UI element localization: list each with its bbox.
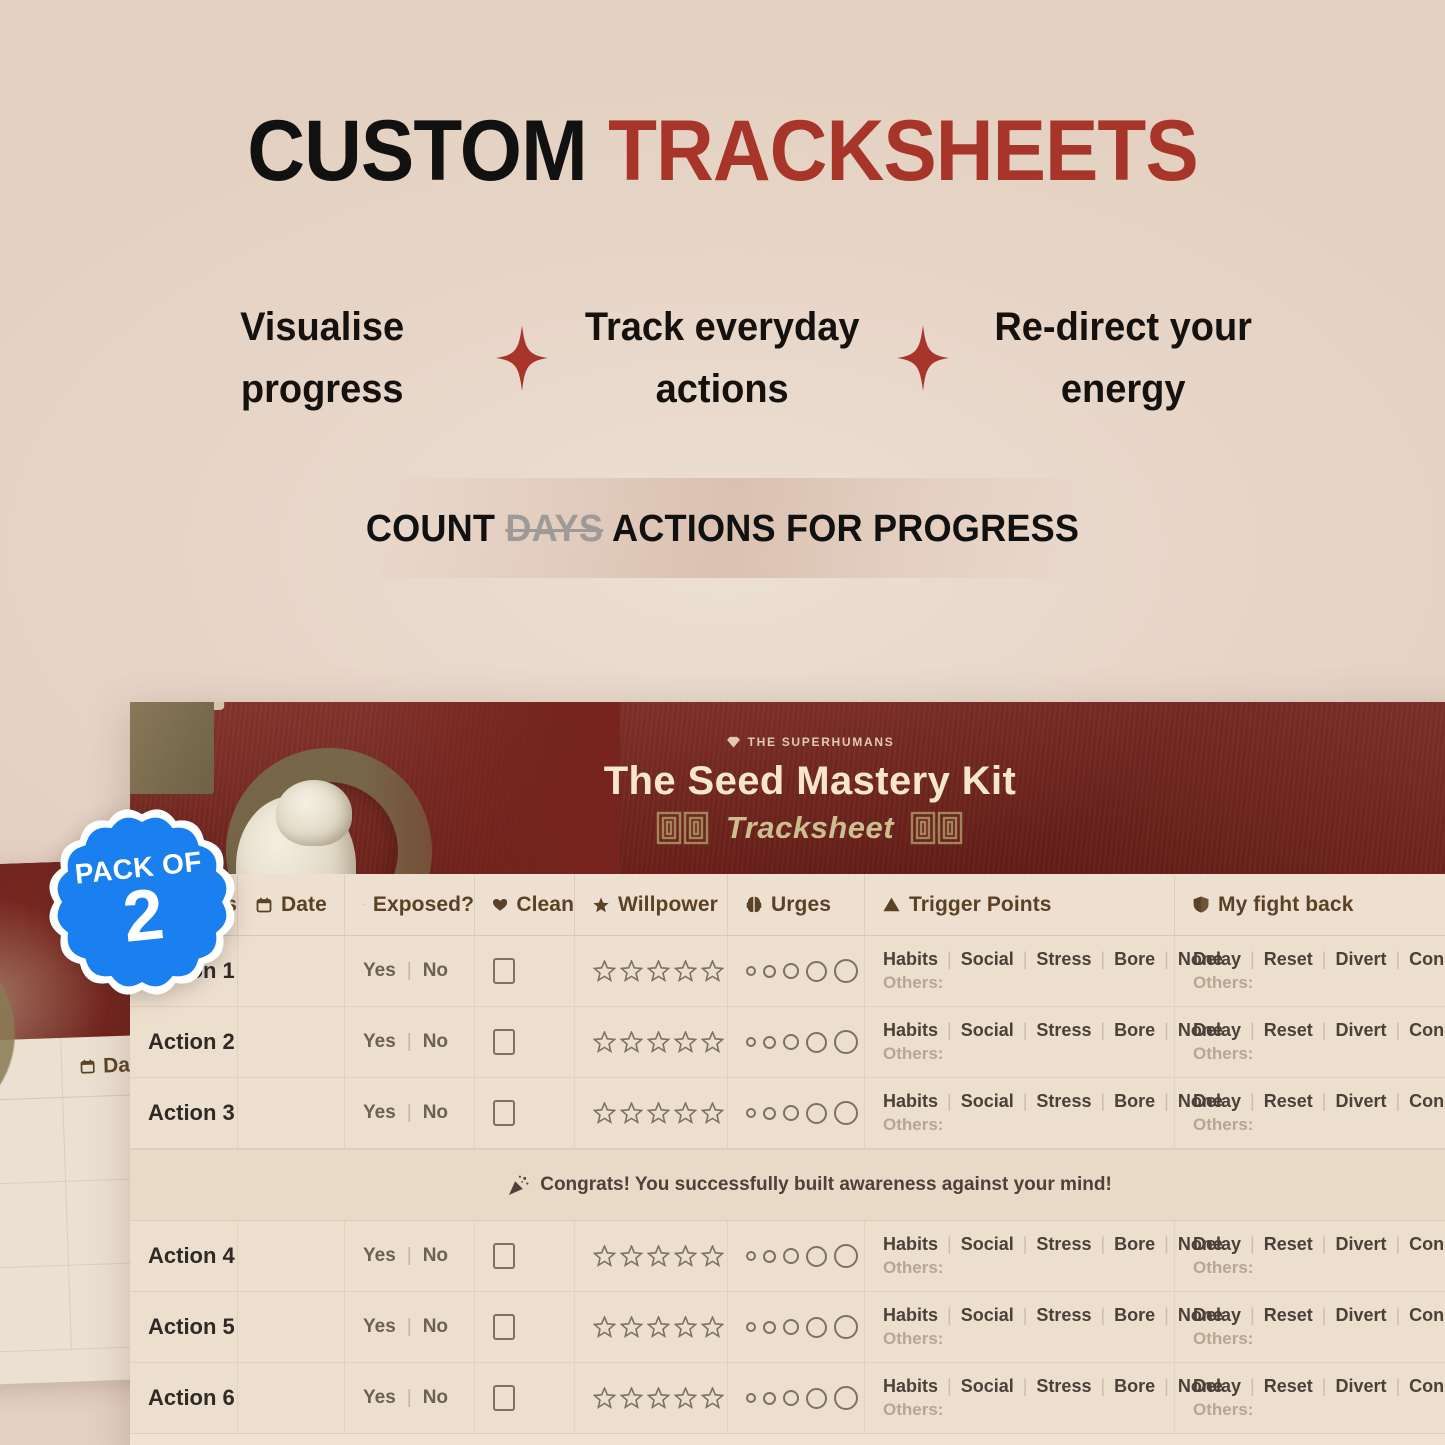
column-header-my-fight-back: My fight back	[1175, 874, 1445, 935]
option-separator: |	[407, 1316, 412, 1338]
option-bore[interactable]: Bore	[1114, 1376, 1155, 1397]
option-separator: |	[1100, 1020, 1105, 1041]
star-icon[interactable]	[647, 960, 670, 982]
option-separator: |	[1164, 1234, 1169, 1255]
option-separator: |	[1023, 1091, 1028, 1112]
exposed-no-option[interactable]: No	[423, 960, 448, 982]
cell-clean	[475, 1363, 575, 1433]
option-separator: |	[1023, 1305, 1028, 1326]
option-separator: |	[947, 1234, 952, 1255]
column-header-exposed-label: Exposed?	[373, 893, 474, 917]
option-separator: |	[1100, 1234, 1105, 1255]
option-reset[interactable]: Reset	[1264, 1376, 1313, 1397]
urges-intensity-scale[interactable]	[746, 1244, 858, 1268]
option-stress[interactable]: Stress	[1036, 1091, 1091, 1112]
option-delay[interactable]: Delay	[1193, 1234, 1241, 1255]
urge-circle[interactable]	[783, 1248, 799, 1264]
others-label[interactable]: Others:	[1193, 1329, 1445, 1349]
count-suffix: ACTIONS FOR PROGRESS	[612, 508, 1079, 550]
option-stress[interactable]: Stress	[1036, 1020, 1091, 1041]
option-separator: |	[1250, 1376, 1255, 1397]
cell-trigger-points: Habits|Social|Stress|Bore|NoneOthers:	[865, 1221, 1175, 1291]
urge-circle[interactable]	[746, 966, 756, 976]
option-separator: |	[1250, 949, 1255, 970]
option-reset[interactable]: Reset	[1264, 1234, 1313, 1255]
column-header-trigger-points-label: Trigger Points	[909, 893, 1052, 917]
trigger-point-options: Habits|Social|Stress|Bore|NoneOthers:	[883, 949, 1174, 993]
cell-urges	[728, 1078, 865, 1148]
option-habits[interactable]: Habits	[883, 1234, 938, 1255]
cell-trigger-points: Habits|Social|Stress|Bore|NoneOthers:	[865, 1078, 1175, 1148]
option-separator: |	[1023, 1234, 1028, 1255]
star-icon[interactable]	[701, 1245, 724, 1267]
congrats-banner: Congrats! You successfully built awarene…	[130, 1149, 1445, 1221]
option-separator: |	[1023, 1020, 1028, 1041]
others-label[interactable]: Others:	[883, 1258, 1174, 1278]
willpower-star-rating[interactable]	[593, 1245, 724, 1267]
option-separator: |	[1395, 1091, 1400, 1112]
table-row: Action 5Yes|NoHabits|Social|Stress|Bore|…	[130, 1292, 1445, 1363]
willpower-star-rating[interactable]	[593, 960, 724, 982]
option-separator: |	[1322, 1020, 1327, 1041]
column-header-clean-label: Clean	[516, 893, 574, 917]
urges-intensity-scale[interactable]	[746, 1030, 858, 1054]
star-icon[interactable]	[701, 1031, 724, 1053]
cell-urges	[728, 1292, 865, 1362]
exposed-yes-option[interactable]: Yes	[363, 1245, 396, 1267]
column-header-exposed: Exposed?	[345, 874, 475, 935]
option-separator: |	[1250, 1091, 1255, 1112]
fight-back-options: Delay|Reset|Divert|ConnOthers:	[1193, 1091, 1445, 1135]
trigger-point-options: Habits|Social|Stress|Bore|NoneOthers:	[883, 1091, 1174, 1135]
trigger-point-options: Habits|Social|Stress|Bore|NoneOthers:	[883, 1305, 1174, 1349]
table-row: Action 4Yes|NoHabits|Social|Stress|Bore|…	[130, 1221, 1445, 1292]
urge-circle[interactable]	[806, 1317, 827, 1338]
option-stress[interactable]: Stress	[1036, 1305, 1091, 1326]
star-icon	[593, 897, 609, 913]
urge-circle[interactable]	[783, 1105, 799, 1121]
option-social[interactable]: Social	[961, 1091, 1014, 1112]
page-title: CUSTOM TRACKSHEETS	[51, 108, 1395, 194]
cell-clean	[475, 1007, 575, 1077]
option-delay[interactable]: Delay	[1193, 1376, 1241, 1397]
tagline-2-line2: actions	[559, 358, 886, 420]
option-separator: |	[1250, 1020, 1255, 1041]
exposed-yes-option[interactable]: Yes	[363, 1102, 396, 1124]
option-delay[interactable]: Delay	[1193, 949, 1241, 970]
urge-circle[interactable]	[834, 1030, 858, 1054]
urge-circle[interactable]	[763, 1392, 776, 1405]
title-part-custom: CUSTOM	[247, 103, 587, 199]
warning-triangle-icon	[883, 897, 900, 912]
cell-urges	[728, 1221, 865, 1291]
star-icon[interactable]	[674, 1316, 697, 1338]
option-bore[interactable]: Bore	[1114, 1020, 1155, 1041]
urge-circle[interactable]	[783, 1034, 799, 1050]
cell-date[interactable]	[238, 1363, 345, 1433]
cell-urges	[728, 936, 865, 1006]
fight-back-options: Delay|Reset|Divert|ConnOthers:	[1193, 1234, 1445, 1278]
poster-canvas: CUSTOM TRACKSHEETS Visualise progress Tr…	[0, 0, 1445, 1445]
star-icon[interactable]	[701, 1387, 724, 1409]
option-divert[interactable]: Divert	[1335, 1234, 1386, 1255]
count-statement: COUNT DAYS ACTIONS FOR PROGRESS	[36, 508, 1409, 551]
urge-circle[interactable]	[763, 965, 776, 978]
sparkle-icon	[895, 323, 951, 393]
star-icon[interactable]	[647, 1031, 670, 1053]
urge-circle[interactable]	[834, 1101, 858, 1125]
column-header-urges-label: Urges	[771, 893, 831, 917]
star-icon[interactable]	[620, 1031, 643, 1053]
clean-checkbox[interactable]	[493, 1100, 515, 1126]
star-icon[interactable]	[620, 1316, 643, 1338]
party-popper-icon	[508, 1175, 529, 1196]
option-divert[interactable]: Divert	[1335, 1091, 1386, 1112]
cell-trigger-points: Habits|Social|Stress|Bore|NoneOthers:	[865, 1007, 1175, 1077]
tagline-2: Track everyday actions	[559, 296, 886, 420]
count-prefix: COUNT	[366, 508, 495, 550]
cell-willpower	[575, 936, 728, 1006]
option-separator: |	[407, 1245, 412, 1267]
fight-back-options: Delay|Reset|Divert|ConnOthers:	[1193, 1020, 1445, 1064]
option-separator: |	[1322, 1091, 1327, 1112]
option-conn[interactable]: Conn	[1409, 1305, 1445, 1326]
exposed-no-option[interactable]: No	[423, 1031, 448, 1053]
others-label[interactable]: Others:	[883, 1329, 1174, 1349]
option-separator: |	[1164, 1376, 1169, 1397]
trigger-point-options: Habits|Social|Stress|Bore|NoneOthers:	[883, 1020, 1174, 1064]
option-separator: |	[947, 1305, 952, 1326]
exposed-yes-option[interactable]: Yes	[363, 1387, 396, 1409]
cell-date[interactable]	[238, 1292, 345, 1362]
star-icon[interactable]	[647, 1102, 670, 1124]
cell-clean	[475, 1292, 575, 1362]
table-row: Action 1Yes|NoHabits|Social|Stress|Bore|…	[130, 936, 1445, 1007]
cell-action-name: Action 6	[130, 1363, 238, 1433]
option-separator: |	[407, 1387, 412, 1409]
kit-title: The Seed Mastery Kit	[604, 760, 1017, 802]
cell-exposed: Yes|No	[345, 1363, 475, 1433]
urge-circle[interactable]	[746, 1037, 756, 1047]
option-delay[interactable]: Delay	[1193, 1020, 1241, 1041]
brand-name: THE SUPERHUMANS	[748, 735, 895, 749]
trigger-point-options: Habits|Social|Stress|Bore|NoneOthers:	[883, 1234, 1174, 1278]
option-separator: |	[1395, 1234, 1400, 1255]
urge-circle[interactable]	[834, 1386, 858, 1410]
lightning-icon	[363, 896, 364, 913]
option-stress[interactable]: Stress	[1036, 1376, 1091, 1397]
option-conn[interactable]: Conn	[1409, 1020, 1445, 1041]
exposed-no-option[interactable]: No	[423, 1102, 448, 1124]
option-habits[interactable]: Habits	[883, 1020, 938, 1041]
option-reset[interactable]: Reset	[1264, 1020, 1313, 1041]
urge-circle[interactable]	[806, 1388, 827, 1409]
tagline-1: Visualise progress	[159, 296, 486, 420]
star-icon[interactable]	[701, 1316, 724, 1338]
urges-intensity-scale[interactable]	[746, 959, 858, 983]
option-divert[interactable]: Divert	[1335, 949, 1386, 970]
option-reset[interactable]: Reset	[1264, 1305, 1313, 1326]
cell-urges	[728, 1007, 865, 1077]
option-bore[interactable]: Bore	[1114, 1091, 1155, 1112]
urges-intensity-scale[interactable]	[746, 1315, 858, 1339]
urge-circle[interactable]	[783, 1319, 799, 1335]
option-bore[interactable]: Bore	[1114, 1234, 1155, 1255]
cell-exposed: Yes|No	[345, 1007, 475, 1077]
cell-my-fight-back: Delay|Reset|Divert|ConnOthers:	[1175, 1007, 1445, 1077]
option-separator: |	[407, 1102, 412, 1124]
cell-willpower	[575, 1007, 728, 1077]
exposed-yes-option[interactable]: Yes	[363, 1031, 396, 1053]
fight-back-options: Delay|Reset|Divert|ConnOthers:	[1193, 1305, 1445, 1349]
option-divert[interactable]: Divert	[1335, 1305, 1386, 1326]
heart-icon	[493, 897, 507, 913]
tagline-group: Visualise progress Track everyday action…	[150, 296, 1295, 420]
table-header-row: Actions Date Exposed? Clean Willpower Ur…	[130, 874, 1445, 936]
option-delay[interactable]: Delay	[1193, 1091, 1241, 1112]
star-icon[interactable]	[593, 1245, 616, 1267]
option-reset[interactable]: Reset	[1264, 1091, 1313, 1112]
scalloped-badge-shape	[38, 798, 246, 1006]
fight-back-options: Delay|Reset|Divert|ConnOthers:	[1193, 1376, 1445, 1420]
option-separator: |	[1164, 949, 1169, 970]
option-divert[interactable]: Divert	[1335, 1020, 1386, 1041]
brand-mark: THE SUPERHUMANS	[726, 735, 895, 749]
star-icon[interactable]	[647, 1245, 670, 1267]
column-header-trigger-points: Trigger Points	[865, 874, 1175, 935]
option-separator: |	[1023, 949, 1028, 970]
tagline-2-line1: Track everyday	[559, 296, 886, 358]
option-social[interactable]: Social	[961, 1305, 1014, 1326]
star-icon[interactable]	[593, 1316, 616, 1338]
primary-tracksheet: THE SUPERHUMANS The Seed Mastery Kit Tra…	[130, 702, 1445, 1445]
option-separator: |	[1100, 949, 1105, 970]
star-icon[interactable]	[593, 1031, 616, 1053]
option-conn[interactable]: Conn	[1409, 1376, 1445, 1397]
urges-intensity-scale[interactable]	[746, 1386, 858, 1410]
star-icon[interactable]	[674, 1102, 697, 1124]
option-social[interactable]: Social	[961, 949, 1014, 970]
cell-date[interactable]	[238, 1078, 345, 1148]
cell-trigger-points: Habits|Social|Stress|Bore|NoneOthers:	[865, 1363, 1175, 1433]
option-separator: |	[947, 1091, 952, 1112]
clean-checkbox[interactable]	[493, 1243, 515, 1269]
star-icon[interactable]	[701, 1102, 724, 1124]
star-icon[interactable]	[674, 1245, 697, 1267]
others-label[interactable]: Others:	[1193, 973, 1445, 993]
cell-trigger-points: Habits|Social|Stress|Bore|NoneOthers:	[865, 1292, 1175, 1362]
table-row: Action 2Yes|NoHabits|Social|Stress|Bore|…	[130, 1007, 1445, 1078]
urge-circle[interactable]	[783, 963, 799, 979]
exposed-yes-option[interactable]: Yes	[363, 1316, 396, 1338]
tagline-1-line1: Visualise	[159, 296, 486, 358]
cell-clean	[475, 1078, 575, 1148]
column-header-my-fight-back-label: My fight back	[1218, 893, 1353, 917]
table-body-top: Action 1Yes|NoHabits|Social|Stress|Bore|…	[130, 936, 1445, 1149]
option-conn[interactable]: Conn	[1409, 949, 1445, 970]
option-habits[interactable]: Habits	[883, 1376, 938, 1397]
cell-willpower	[575, 1221, 728, 1291]
option-reset[interactable]: Reset	[1264, 949, 1313, 970]
urge-circle[interactable]	[746, 1251, 756, 1261]
urge-circle[interactable]	[806, 1032, 827, 1053]
option-separator: |	[947, 1376, 952, 1397]
option-social[interactable]: Social	[961, 1020, 1014, 1041]
others-label[interactable]: Others:	[1193, 1258, 1445, 1278]
option-separator: |	[407, 1031, 412, 1053]
clean-checkbox[interactable]	[493, 1385, 515, 1411]
star-icon[interactable]	[620, 1245, 643, 1267]
urge-circle[interactable]	[746, 1322, 756, 1332]
clean-checkbox[interactable]	[493, 958, 515, 984]
option-separator: |	[1395, 949, 1400, 970]
tagline-3-line2: energy	[959, 358, 1286, 420]
option-habits[interactable]: Habits	[883, 1305, 938, 1326]
willpower-star-rating[interactable]	[593, 1102, 724, 1124]
exposed-no-option[interactable]: No	[423, 1245, 448, 1267]
star-icon[interactable]	[647, 1387, 670, 1409]
cell-exposed: Yes|No	[345, 1292, 475, 1362]
sparkle-icon	[494, 323, 550, 393]
column-header-urges: Urges	[728, 874, 865, 935]
option-separator: |	[1023, 1376, 1028, 1397]
tagline-3: Re-direct your energy	[959, 296, 1286, 420]
option-divert[interactable]: Divert	[1335, 1376, 1386, 1397]
urge-circle[interactable]	[763, 1036, 776, 1049]
cell-my-fight-back: Delay|Reset|Divert|ConnOthers:	[1175, 1221, 1445, 1291]
option-stress[interactable]: Stress	[1036, 1234, 1091, 1255]
urge-circle[interactable]	[763, 1250, 776, 1263]
cell-date[interactable]	[238, 1007, 345, 1077]
option-separator: |	[1164, 1305, 1169, 1326]
pack-of-badge: PACK OF 2	[38, 798, 246, 1006]
cell-exposed: Yes|No	[345, 1078, 475, 1148]
shield-icon	[1193, 896, 1209, 913]
others-label[interactable]: Others:	[883, 1400, 1174, 1420]
column-header-clean: Clean	[475, 874, 575, 935]
calendar-icon	[256, 897, 272, 913]
cell-my-fight-back: Delay|Reset|Divert|ConnOthers:	[1175, 936, 1445, 1006]
star-icon[interactable]	[674, 1031, 697, 1053]
clean-checkbox[interactable]	[493, 1314, 515, 1340]
tracksheet-word: Tracksheet	[726, 810, 894, 846]
cell-willpower	[575, 1292, 728, 1362]
option-bore[interactable]: Bore	[1114, 949, 1155, 970]
column-header-willpower-label: Willpower	[618, 893, 718, 917]
option-bore[interactable]: Bore	[1114, 1305, 1155, 1326]
cell-exposed: Yes|No	[345, 1221, 475, 1291]
option-conn[interactable]: Conn	[1409, 1234, 1445, 1255]
table-body-bottom: Action 4Yes|NoHabits|Social|Stress|Bore|…	[130, 1221, 1445, 1434]
option-separator: |	[1395, 1305, 1400, 1326]
exposed-yes-option[interactable]: Yes	[363, 960, 396, 982]
urge-circle[interactable]	[834, 959, 858, 983]
star-icon[interactable]	[620, 1102, 643, 1124]
others-label[interactable]: Others:	[1193, 1115, 1445, 1135]
column-header-date-label: Date	[281, 893, 327, 917]
star-icon[interactable]	[701, 960, 724, 982]
willpower-star-rating[interactable]	[593, 1316, 724, 1338]
cell-willpower	[575, 1363, 728, 1433]
urge-circle[interactable]	[806, 1103, 827, 1124]
star-icon[interactable]	[593, 960, 616, 982]
cell-action-name: Action 2	[130, 1007, 238, 1077]
cell-willpower	[575, 1078, 728, 1148]
meander-ornament-right	[910, 811, 964, 845]
urge-circle[interactable]	[834, 1315, 858, 1339]
cell-action-name: Action 5	[130, 1292, 238, 1362]
cell-date[interactable]	[238, 936, 345, 1006]
count-struck-word: DAYS	[505, 508, 603, 550]
willpower-star-rating[interactable]	[593, 1387, 724, 1409]
option-separator: |	[1100, 1091, 1105, 1112]
tagline-1-line2: progress	[159, 358, 486, 420]
option-habits[interactable]: Habits	[883, 1091, 938, 1112]
option-conn[interactable]: Conn	[1409, 1091, 1445, 1112]
option-delay[interactable]: Delay	[1193, 1305, 1241, 1326]
cell-exposed: Yes|No	[345, 936, 475, 1006]
urge-circle[interactable]	[806, 961, 827, 982]
urge-circle[interactable]	[746, 1393, 756, 1403]
star-icon[interactable]	[620, 960, 643, 982]
option-separator: |	[1322, 1376, 1327, 1397]
urge-circle[interactable]	[763, 1321, 776, 1334]
star-icon[interactable]	[593, 1387, 616, 1409]
option-social[interactable]: Social	[961, 1376, 1014, 1397]
cell-date[interactable]	[238, 1221, 345, 1291]
urge-circle[interactable]	[834, 1244, 858, 1268]
others-label[interactable]: Others:	[1193, 1400, 1445, 1420]
others-label[interactable]: Others:	[883, 1115, 1174, 1135]
others-label[interactable]: Others:	[883, 1044, 1174, 1064]
urge-circle[interactable]	[763, 1107, 776, 1120]
option-separator: |	[1322, 1234, 1327, 1255]
option-separator: |	[1395, 1376, 1400, 1397]
others-label[interactable]: Others:	[883, 973, 1174, 993]
urges-intensity-scale[interactable]	[746, 1101, 858, 1125]
brain-icon	[746, 896, 762, 913]
urge-circle[interactable]	[746, 1108, 756, 1118]
others-label[interactable]: Others:	[1193, 1044, 1445, 1064]
urge-circle[interactable]	[806, 1246, 827, 1267]
cell-clean	[475, 936, 575, 1006]
willpower-star-rating[interactable]	[593, 1031, 724, 1053]
star-icon[interactable]	[674, 960, 697, 982]
option-stress[interactable]: Stress	[1036, 949, 1091, 970]
exposed-no-option[interactable]: No	[423, 1316, 448, 1338]
option-separator: |	[1395, 1020, 1400, 1041]
star-icon[interactable]	[647, 1316, 670, 1338]
option-habits[interactable]: Habits	[883, 949, 938, 970]
option-social[interactable]: Social	[961, 1234, 1014, 1255]
option-separator: |	[1164, 1091, 1169, 1112]
cell-urges	[728, 1363, 865, 1433]
exposed-no-option[interactable]: No	[423, 1387, 448, 1409]
star-icon[interactable]	[593, 1102, 616, 1124]
option-separator: |	[1322, 1305, 1327, 1326]
urge-circle[interactable]	[783, 1390, 799, 1406]
diamond-icon	[726, 736, 741, 748]
star-icon[interactable]	[620, 1387, 643, 1409]
cell-trigger-points: Habits|Social|Stress|Bore|NoneOthers:	[865, 936, 1175, 1006]
option-separator: |	[1100, 1376, 1105, 1397]
title-part-tracksheets: TRACKSHEETS	[608, 103, 1198, 199]
clean-checkbox[interactable]	[493, 1029, 515, 1055]
star-icon[interactable]	[674, 1387, 697, 1409]
meander-ornament-left	[656, 811, 710, 845]
cell-action-name: Action 4	[130, 1221, 238, 1291]
tagline-3-line1: Re-direct your	[959, 296, 1286, 358]
